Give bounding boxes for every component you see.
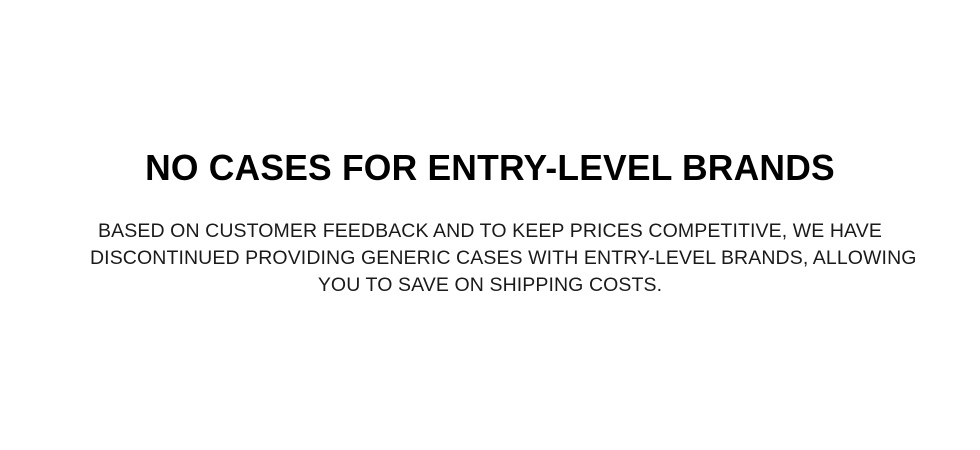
body-line: DISCONTINUED PROVIDING GENERIC CASES WIT…	[90, 245, 890, 272]
banner-content: NO CASES FOR ENTRY-LEVEL BRANDS BASED ON…	[0, 0, 980, 299]
promo-banner: NO CASES FOR ENTRY-LEVEL BRANDS BASED ON…	[0, 0, 980, 450]
body-line: BASED ON CUSTOMER FEEDBACK AND TO KEEP P…	[90, 218, 890, 245]
body-line: YOU TO SAVE ON SHIPPING COSTS.	[90, 272, 890, 299]
banner-heading: NO CASES FOR ENTRY-LEVEL BRANDS	[7, 148, 972, 188]
banner-body-text: BASED ON CUSTOMER FEEDBACK AND TO KEEP P…	[90, 218, 890, 299]
